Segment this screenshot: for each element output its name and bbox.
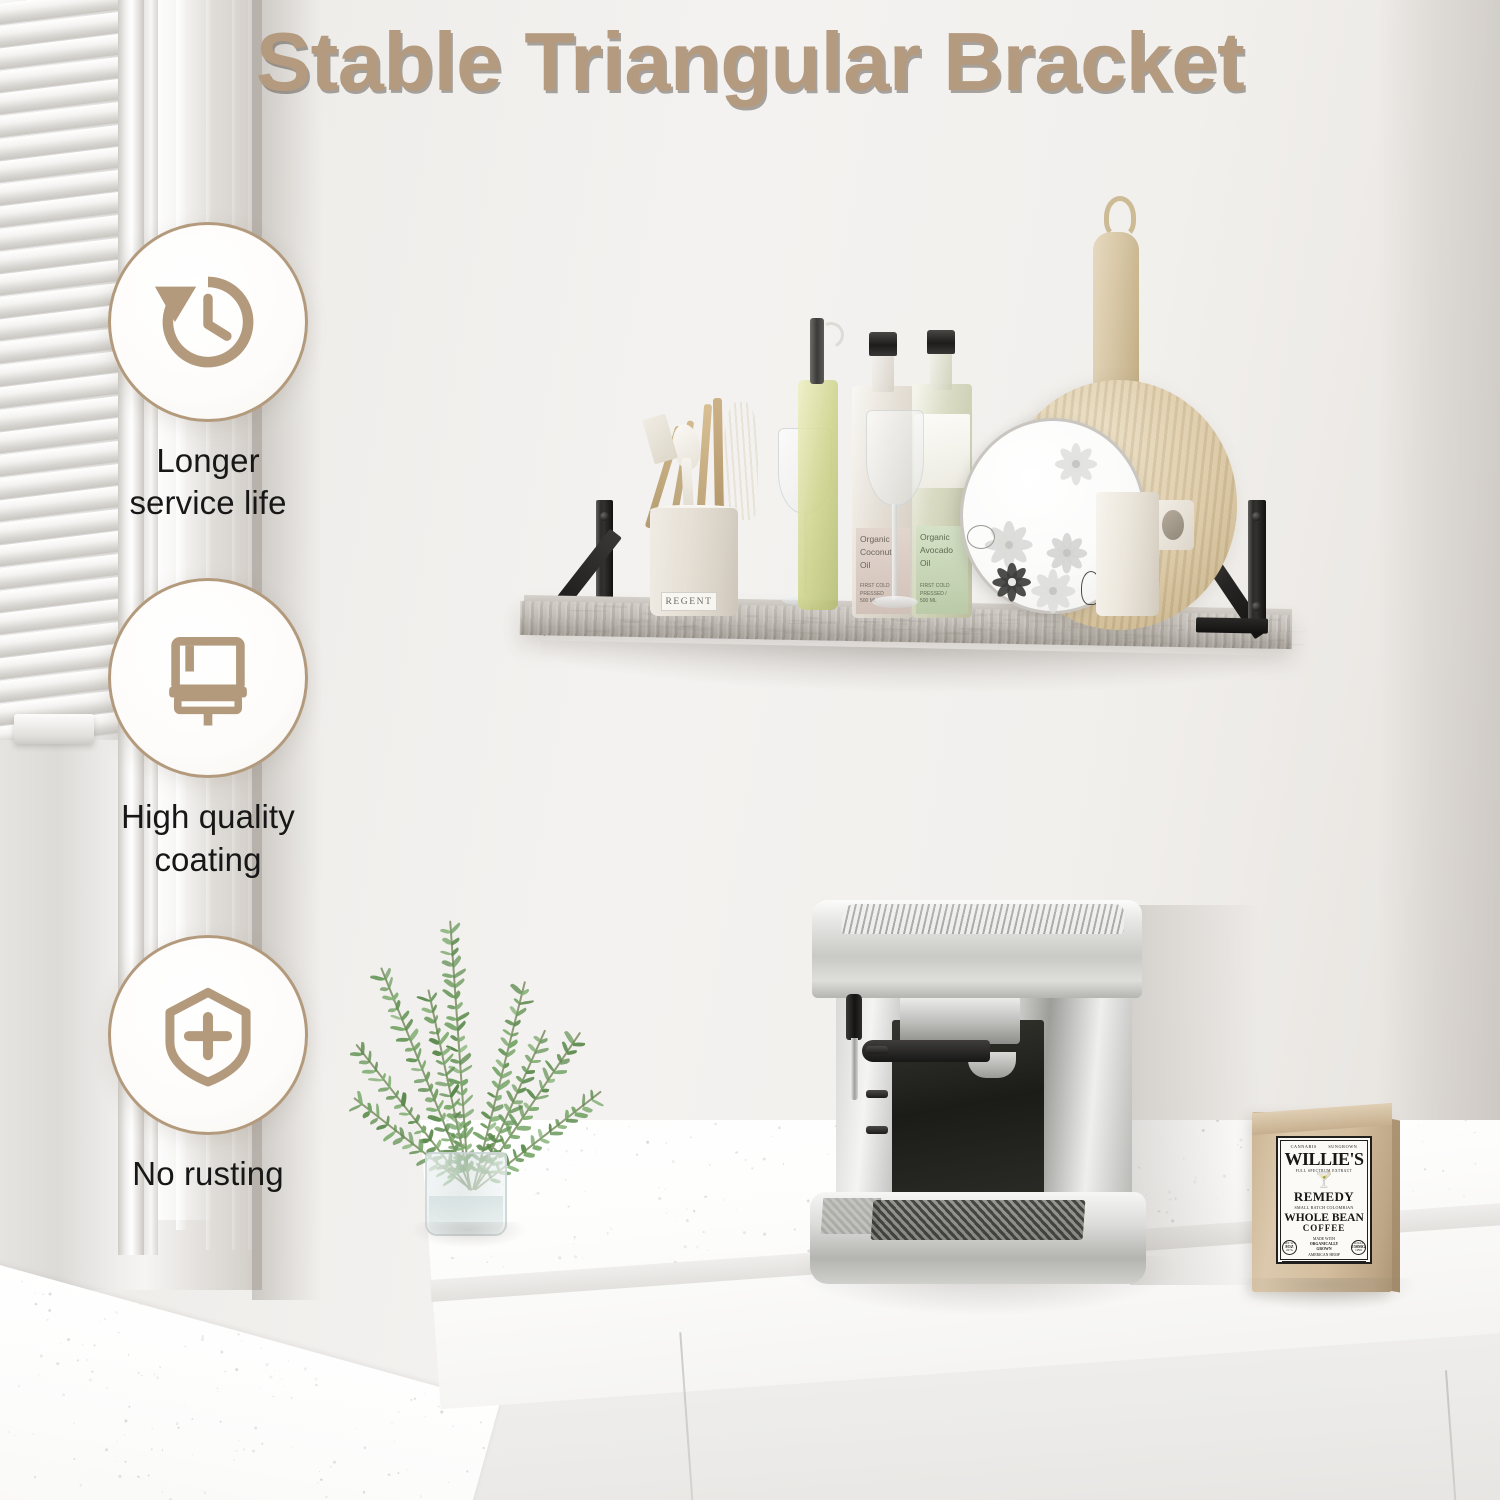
shelf-wood-grain: [989, 633, 1016, 636]
shelf-wood-grain: [594, 606, 627, 609]
countertop-speck: [665, 1143, 667, 1145]
countertop-speck: [693, 1210, 695, 1212]
label-hemp-claim: MADE WITH ORGANICALLY GROWN AMERICAN HEM…: [1308, 1237, 1340, 1258]
countertop-speck: [735, 1151, 738, 1154]
feature-label: Longer service life: [58, 440, 358, 524]
plant-leaf: [531, 1060, 541, 1063]
plant-leaf: [376, 1104, 379, 1119]
countertop-speck: [61, 1344, 62, 1345]
label-line: Oil: [920, 557, 964, 570]
countertop-speck: [13, 1473, 14, 1474]
feature-label: High quality coating: [58, 796, 358, 880]
countertop-speck: [541, 1257, 543, 1259]
shelf-wood-grain: [1221, 635, 1229, 637]
countertop-speck: [116, 1440, 118, 1442]
countertop-speck: [751, 1168, 753, 1170]
countertop-speck: [658, 1187, 659, 1188]
countertop-speck: [316, 1482, 318, 1484]
countertop-speck: [686, 1219, 689, 1222]
countertop-speck: [115, 1311, 119, 1315]
daisy-light: [1053, 441, 1099, 487]
plant-leaf: [550, 1131, 563, 1136]
countertop-speck: [269, 1375, 272, 1378]
shelf-wood-grain: [617, 626, 638, 628]
shelf-wood-grain: [713, 625, 729, 626]
plant-leaf: [516, 1125, 530, 1131]
countertop-speck: [73, 1422, 74, 1423]
countertop-speck: [261, 1348, 262, 1349]
countertop-speck: [192, 1418, 195, 1421]
label-origin: SMALL BATCH COLOMBIAN: [1282, 1205, 1366, 1210]
espresso-control-knob[interactable]: [866, 1046, 888, 1054]
shelf-wood-grain: [1073, 636, 1096, 638]
coffee-bag-label: CANNABIS SUNGROWN WILLIE'S FULL SPECTRUM…: [1276, 1136, 1372, 1264]
label-line: FIRST COLD PRESSED /: [920, 583, 964, 598]
countertop-speck: [93, 1344, 96, 1347]
countertop-speck: [175, 1422, 178, 1425]
countertop-speck: [486, 1261, 488, 1263]
feature-label-line: coating: [58, 839, 358, 881]
countertop-speck: [419, 1495, 422, 1498]
shelf-wood-grain: [968, 628, 983, 631]
page-title: Stable Triangular Bracket: [0, 14, 1500, 110]
countertop-speck: [709, 1164, 711, 1166]
plant-leaf: [434, 1081, 448, 1088]
countertop-speck: [1424, 1168, 1426, 1170]
countertop-speck: [407, 1470, 408, 1471]
countertop-speck: [291, 1446, 293, 1448]
countertop-speck: [161, 1449, 163, 1451]
shelf-wood-grain: [830, 633, 848, 635]
plant-leaf: [560, 1059, 571, 1065]
countertop-speck: [387, 1473, 390, 1476]
plant-leaf: [504, 1018, 515, 1028]
plant-leaf: [427, 1129, 435, 1142]
countertop-speck: [536, 1192, 539, 1195]
plant-leaf: [526, 1070, 535, 1074]
countertop-speck: [238, 1439, 241, 1442]
countertop-speck: [235, 1368, 239, 1372]
countertop-speck: [235, 1450, 237, 1452]
avocado-oil-cap: [927, 330, 955, 354]
plant-leaf: [573, 1042, 586, 1047]
mug-handle-hole: [1162, 510, 1184, 540]
countertop-speck: [56, 1362, 59, 1365]
countertop-speck: [106, 1387, 107, 1388]
paint-brush-icon: [154, 624, 262, 732]
countertop-speck: [291, 1396, 294, 1399]
daisy-center: [1008, 578, 1015, 585]
espresso-machine: [800, 900, 1150, 1290]
countertop-speck: [703, 1231, 705, 1233]
plant-leaf: [369, 1118, 379, 1126]
plate-swirl: [967, 525, 995, 549]
label-line: Oil: [860, 559, 906, 572]
coffee-bag-shadow: [1238, 1278, 1418, 1312]
countertop-speck: [76, 1359, 79, 1362]
countertop-speck: [115, 1460, 117, 1462]
shelf-wood-grain: [942, 637, 948, 639]
countertop-speck: [439, 1493, 440, 1494]
bracket-shelf-arm: [1196, 617, 1268, 633]
countertop-speck: [744, 1159, 746, 1161]
countertop-speck: [124, 1460, 126, 1462]
countertop-speck: [242, 1447, 246, 1451]
plant-leaf: [567, 1050, 578, 1055]
shelf-wood-grain: [1241, 641, 1272, 643]
countertop-speck: [330, 1466, 332, 1468]
plant-leaf: [532, 1144, 542, 1151]
countertop-speck: [666, 1212, 667, 1213]
countertop-speck: [89, 1378, 92, 1381]
countertop-speck: [204, 1491, 207, 1494]
countertop-speck: [128, 1354, 130, 1356]
countertop-speck: [162, 1491, 164, 1493]
countertop-speck: [672, 1160, 675, 1163]
olive-branch-arrangement: [330, 760, 650, 1190]
shelf-wood-grain: [640, 625, 655, 627]
countertop-speck: [67, 1338, 70, 1341]
plant-leaf: [376, 1124, 387, 1130]
plant-leaf: [524, 1151, 536, 1159]
shelf-wood-grain: [1123, 637, 1147, 639]
plant-leaf: [400, 1092, 407, 1107]
countertop-surface-left: [0, 1254, 500, 1500]
countertop-speck: [329, 1385, 330, 1386]
countertop-speck: [58, 1315, 60, 1317]
plant-leaf: [434, 1140, 443, 1150]
espresso-control-knob[interactable]: [866, 1090, 888, 1098]
plant-leaf: [554, 1070, 567, 1074]
label-line: Organic: [920, 531, 964, 544]
daisy-dark: [991, 561, 1033, 603]
label-line: Avocado: [920, 544, 964, 557]
countertop-speck: [794, 1229, 796, 1231]
plant-leaf: [574, 1111, 587, 1119]
shelf-wood-grain: [1048, 633, 1063, 634]
plant-leaf: [510, 1134, 521, 1140]
espresso-group-head: [900, 996, 1020, 1044]
shelf-wood-grain: [768, 629, 801, 632]
countertop-speck: [451, 1257, 454, 1260]
plant-leaf: [495, 1095, 503, 1101]
plant-leaf: [535, 1095, 550, 1100]
espresso-cup-warmer-grate: [841, 904, 1125, 934]
countertop-speck: [696, 1246, 699, 1249]
countertop-speck: [670, 1258, 671, 1259]
label-banner: COUNT YOUR BLESSINGS DAILY: [1282, 1261, 1366, 1264]
countertop-speck: [241, 1340, 243, 1342]
countertop-speck: [567, 1205, 570, 1208]
countertop-speck: [1412, 1191, 1413, 1192]
daisy-light: [1029, 567, 1077, 615]
countertop-speck: [320, 1478, 323, 1481]
countertop-speck: [274, 1370, 275, 1371]
countertop-speck: [82, 1343, 83, 1344]
label-line: Coconut: [860, 546, 906, 559]
plant-leaf: [566, 1118, 578, 1123]
shelf-wood-grain: [746, 615, 759, 618]
countertop-speck: [410, 1399, 413, 1402]
countertop-speck: [582, 1257, 584, 1259]
shelf-wood-grain: [1129, 642, 1138, 644]
shelf-wood-grain: [1065, 629, 1074, 631]
daisy-center: [1063, 549, 1070, 556]
feature-label-line: Longer: [58, 440, 358, 482]
countertop-speck: [664, 1188, 665, 1189]
shelf-wood-grain: [668, 621, 684, 624]
countertop-speck: [425, 1394, 426, 1395]
plant-leaf: [548, 1079, 555, 1083]
shelf-wood-grain: [1269, 618, 1283, 621]
shelf-wood-grain: [865, 628, 876, 631]
countertop-speck: [46, 1318, 48, 1320]
countertop-speck: [151, 1427, 153, 1429]
shelf-wood-grain: [605, 628, 625, 631]
countertop-speck: [141, 1375, 143, 1377]
countertop-speck: [304, 1367, 307, 1370]
shelf-wood-grain: [1003, 619, 1019, 622]
countertop-speck: [714, 1123, 716, 1125]
countertop-speck: [480, 1421, 482, 1423]
label-line: Organic: [860, 533, 906, 546]
countertop-speck: [14, 1435, 15, 1436]
shelf-wood-grain: [898, 622, 909, 625]
countertop-speck: [21, 1281, 23, 1283]
countertop-speck: [73, 1457, 76, 1460]
countertop-speck: [99, 1321, 101, 1323]
countertop-speck: [128, 1406, 130, 1408]
countertop-speck: [184, 1406, 185, 1407]
countertop-speck: [742, 1231, 745, 1234]
countertop-speck: [452, 1424, 455, 1427]
feature-longer-service-life: Longer service life: [58, 222, 358, 524]
feature-label-line: service life: [58, 482, 358, 524]
bracket-screw: [1252, 512, 1261, 521]
countertop-speck: [156, 1376, 159, 1379]
countertop-speck: [783, 1164, 784, 1165]
countertop-speck: [704, 1195, 707, 1198]
plant-leaf: [380, 1072, 387, 1081]
oil-cruet: [798, 380, 838, 610]
countertop-speck: [584, 1191, 585, 1192]
feature-icon-circle: [108, 935, 308, 1135]
countertop-speck: [424, 1416, 426, 1418]
feature-label-line: No rusting: [58, 1153, 358, 1195]
countertop-speck: [192, 1454, 193, 1455]
plant-leaf: [558, 1124, 568, 1130]
countertop-speck: [482, 1447, 485, 1450]
plant-leaf: [529, 1107, 539, 1111]
countertop-speck: [1463, 1196, 1465, 1198]
plant-leaf: [407, 1107, 414, 1116]
plant-leaf: [582, 1094, 587, 1107]
countertop-speck: [573, 1243, 574, 1244]
countertop-speck: [42, 1293, 44, 1295]
feature-label-line: High quality: [58, 796, 358, 838]
countertop-speck: [254, 1426, 258, 1430]
feature-high-quality-coating: High quality coating: [58, 578, 358, 880]
feature-list: Longer service life High quality coating: [58, 222, 358, 1195]
label-line: 500 ML: [920, 598, 964, 606]
countertop-speck: [48, 1292, 52, 1296]
countertop-speck: [216, 1387, 218, 1389]
label-detail-row: NET WT 8OZ 227G MADE WITH ORGANICALLY GR…: [1282, 1237, 1366, 1258]
countertop-speck: [397, 1472, 400, 1475]
label-coffee: COFFEE: [1282, 1224, 1366, 1233]
shelf-wood-grain: [1021, 629, 1051, 631]
countertop-speck: [1422, 1141, 1424, 1143]
countertop-speck: [397, 1411, 399, 1413]
countertop-speck: [574, 1236, 576, 1238]
plant-leaf: [504, 1120, 516, 1126]
shelf-wood-grain: [696, 619, 706, 621]
countertop-speck: [686, 1208, 689, 1211]
countertop-speck: [118, 1332, 120, 1334]
countertop-speck: [8, 1432, 9, 1433]
net-weight-badge: NET WT 8OZ 227G: [1282, 1240, 1297, 1255]
countertop-speck: [281, 1378, 283, 1380]
countertop-speck: [658, 1197, 661, 1200]
feature-no-rusting: No rusting: [58, 935, 358, 1195]
shelf-wood-grain: [1158, 625, 1182, 627]
countertop-speck: [124, 1419, 128, 1423]
shelf-wood-grain: [1042, 626, 1056, 628]
countertop-speck: [201, 1338, 205, 1342]
espresso-control-knob[interactable]: [866, 1126, 888, 1134]
countertop-speck: [708, 1250, 709, 1251]
label-whole-bean: WHOLE BEAN: [1282, 1212, 1366, 1224]
product-feature-image: Organic Coconut Oil FIRST COLD PRESSED 5…: [0, 0, 1500, 1500]
ceramic-mug: [1096, 492, 1159, 616]
shelf-wood-grain: [789, 623, 806, 624]
shelf-wood-grain: [1268, 630, 1307, 632]
plant-leaf: [541, 1088, 549, 1093]
shelf-wood-grain: [1267, 644, 1304, 646]
countertop-speck: [79, 1484, 82, 1487]
feature-icon-circle: [108, 578, 308, 778]
shelf-wood-grain: [790, 620, 811, 621]
plant-leaf: [374, 1061, 380, 1072]
countertop-speck: [262, 1443, 264, 1445]
countertop-speck: [413, 1397, 416, 1400]
countertop-speck: [676, 1220, 677, 1221]
shelf-wood-grain: [866, 624, 883, 627]
countertop-speck: [315, 1383, 318, 1386]
shelf-wood-grain: [1048, 639, 1078, 641]
countertop-speck: [288, 1361, 289, 1362]
whisk: [724, 402, 758, 520]
feature-label: No rusting: [58, 1153, 358, 1195]
shelf-wood-grain: [1177, 629, 1184, 631]
countertop-speck: [401, 1462, 402, 1463]
countertop-speck: [140, 1304, 141, 1305]
countertop-speck: [763, 1233, 766, 1236]
countertop-speck: [724, 1199, 725, 1200]
countertop-speck: [1464, 1120, 1467, 1121]
plant-leaf: [591, 1098, 604, 1107]
shelf-wood-grain: [784, 632, 823, 634]
shelf-wood-grain: [845, 626, 867, 629]
countertop-speck: [153, 1373, 155, 1375]
countertop-speck: [355, 1428, 357, 1430]
shelf-wood-grain: [913, 634, 936, 635]
cocktail-glass-icon: 🍸: [1282, 1174, 1366, 1189]
countertop-speck: [232, 1458, 235, 1461]
bracket-plate-highlight: [1248, 500, 1253, 632]
countertop-speck: [62, 1393, 66, 1397]
countertop-speck: [105, 1448, 108, 1451]
shelf-wood-grain: [1068, 627, 1088, 628]
countertop-speck: [392, 1423, 393, 1424]
countertop-speck: [606, 1232, 608, 1234]
espresso-drip-tray: [871, 1200, 1086, 1240]
countertop-speck: [534, 1194, 535, 1195]
countertop-speck: [467, 1471, 469, 1473]
countertop-speck: [778, 1126, 781, 1129]
countertop-speck: [763, 1158, 766, 1161]
countertop-speck: [326, 1496, 328, 1498]
countertop-speck: [150, 1448, 153, 1451]
countertop-speck: [32, 1433, 34, 1435]
potency-badge: TOTAL 150MG CBD: [1351, 1240, 1366, 1255]
countertop-speck: [574, 1239, 575, 1240]
countertop-speck: [574, 1255, 577, 1258]
countertop-speck: [502, 1266, 503, 1267]
countertop-speck: [736, 1209, 737, 1210]
countertop-speck: [690, 1137, 691, 1138]
countertop-speck: [1449, 1189, 1450, 1190]
countertop-speck: [38, 1375, 39, 1376]
countertop-speck: [34, 1476, 36, 1478]
countertop-speck: [34, 1293, 35, 1294]
countertop-speck: [124, 1434, 126, 1436]
daisy-center: [1072, 460, 1080, 468]
plant-leaf: [540, 1138, 550, 1146]
countertop-speck: [319, 1471, 320, 1472]
plant-leaf: [377, 1087, 388, 1092]
countertop-speck: [1474, 1163, 1476, 1165]
shelf-wood-grain: [1164, 643, 1171, 644]
countertop-speck: [252, 1449, 256, 1453]
plant-leaf: [523, 1115, 533, 1120]
countertop-speck: [284, 1385, 285, 1386]
countertop-speck: [136, 1475, 140, 1479]
countertop-speck: [219, 1421, 221, 1423]
shelf-wood-grain: [1012, 636, 1045, 638]
countertop-speck: [34, 1302, 37, 1305]
feature-icon-circle: [108, 222, 308, 422]
countertop-speck: [103, 1318, 106, 1321]
countertop-speck: [86, 1358, 89, 1361]
label-remedy: REMEDY: [1282, 1190, 1366, 1203]
countertop-speck: [610, 1227, 612, 1229]
countertop-speck: [260, 1387, 261, 1388]
shelf-wood-grain: [543, 626, 579, 628]
countertop-speck: [272, 1395, 274, 1397]
countertop-speck: [1442, 1170, 1445, 1173]
shelf-wood-grain: [764, 617, 784, 618]
countertop-speck: [147, 1475, 149, 1477]
avocado-oil-label: Organic Avocado Oil FIRST COLD PRESSED /…: [916, 526, 968, 614]
countertop-speck: [363, 1446, 366, 1449]
shelf-wood-grain: [985, 622, 1019, 624]
shelf-wood-grain: [730, 625, 766, 627]
countertop-speck: [92, 1371, 94, 1373]
countertop-speck: [48, 1308, 52, 1312]
countertop-speck: [137, 1372, 139, 1374]
countertop-speck: [39, 1354, 43, 1358]
